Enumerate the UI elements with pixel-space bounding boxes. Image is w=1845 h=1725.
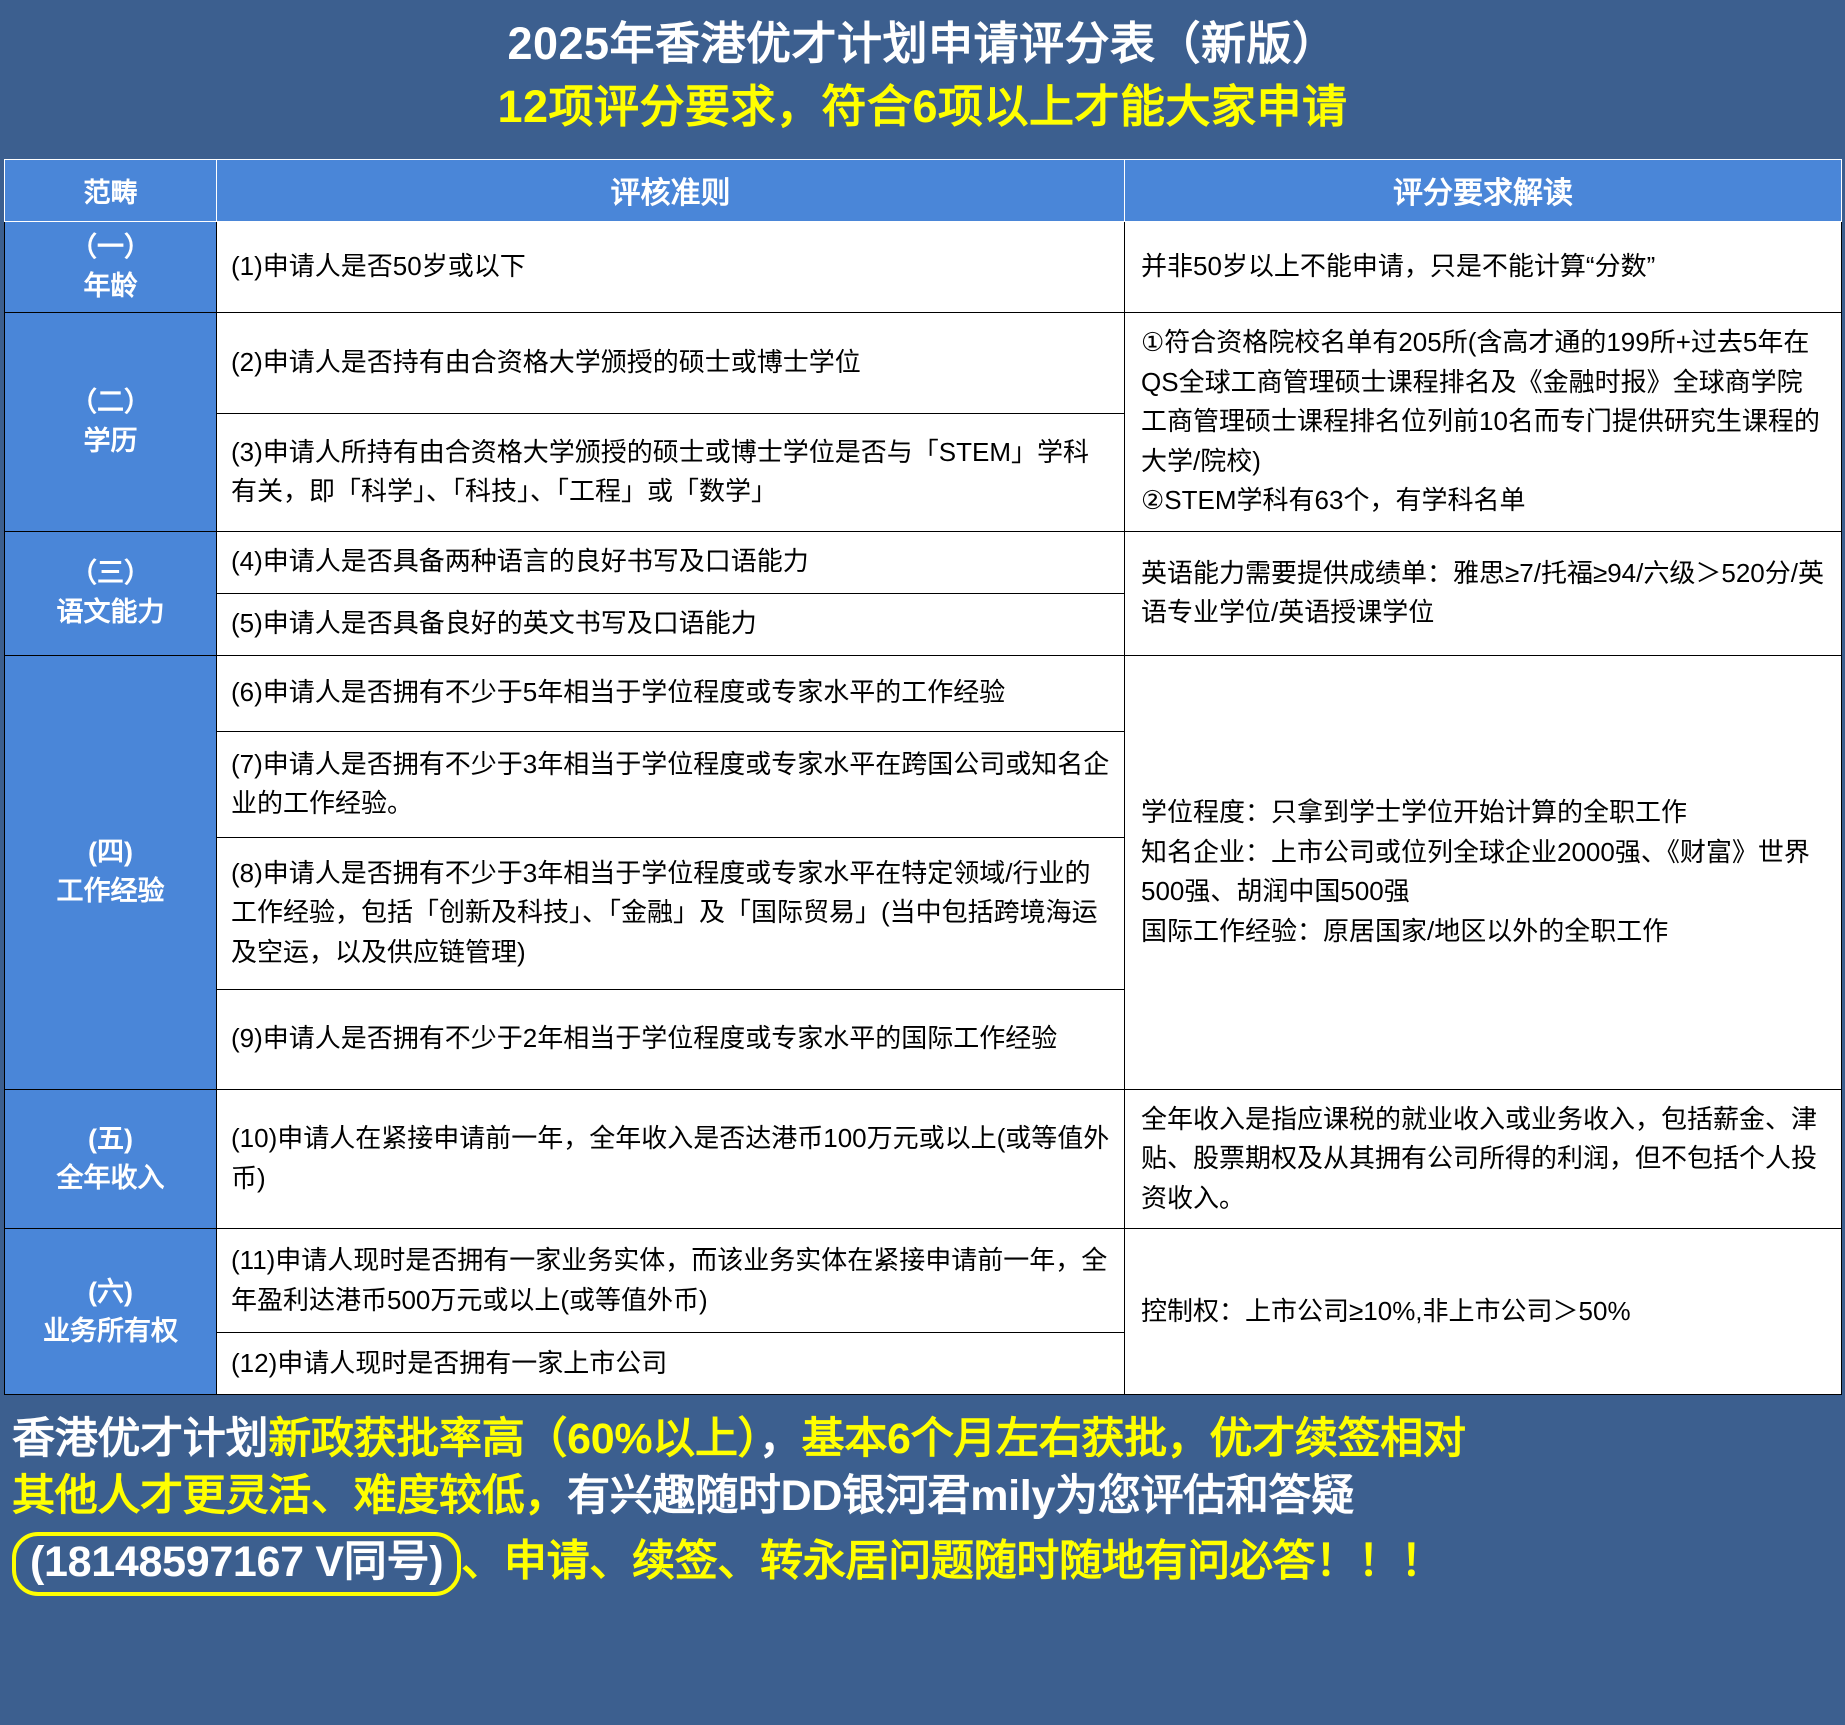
category-name: 语文能力	[7, 593, 214, 632]
category-cell-business: (六) 业务所有权	[5, 1229, 217, 1395]
table-row: (六) 业务所有权 (11)申请人现时是否拥有一家业务实体，而该业务实体在紧接申…	[5, 1229, 1842, 1333]
promo-line3-part-b: 、申请、续签、转永居问题随时随地有问必答！！！	[461, 1537, 1443, 1585]
category-number: (六)	[7, 1273, 214, 1312]
column-header-category: 范畴	[5, 159, 217, 221]
table-row: （二） 学历 (2)申请人是否持有由合资格大学颁授的硕士或博士学位 ①符合资格院…	[5, 313, 1842, 414]
category-name: 全年收入	[7, 1159, 214, 1198]
promo-line1-part-d: 基本6个月左右获批，优才续签相对	[802, 1415, 1466, 1463]
note-cell-business: 控制权：上市公司≥10%,非上市公司＞50%	[1125, 1229, 1842, 1395]
category-cell-language: （三） 语文能力	[5, 531, 217, 655]
page-subtitle: 12项评分要求，符合6项以上才能大家申请	[0, 77, 1845, 136]
criteria-cell-5: (5)申请人是否具备良好的英文书写及口语能力	[217, 593, 1125, 655]
criteria-cell-3: (3)申请人所持有由合资格大学颁授的硕士或博士学位是否与「STEM」学科有关，即…	[217, 413, 1125, 531]
table-header-row: 范畴 评核准则 评分要求解读	[5, 159, 1842, 221]
score-table: 范畴 评核准则 评分要求解读 （一） 年龄 (1)申请人是否50岁或以下 并非5…	[4, 159, 1842, 1395]
category-cell-income: (五) 全年收入	[5, 1089, 217, 1229]
criteria-cell-11: (11)申请人现时是否拥有一家业务实体，而该业务实体在紧接申请前一年，全年盈利达…	[217, 1229, 1125, 1333]
promo-line2-part-b: 有兴趣随时DD银河君mily为您评估和答疑	[567, 1472, 1354, 1520]
column-header-criteria: 评核准则	[217, 159, 1125, 221]
promo-line-2: 其他人才更灵活、难度较低，有兴趣随时DD银河君mily为您评估和答疑	[12, 1468, 1833, 1525]
table-row: (五) 全年收入 (10)申请人在紧接申请前一年，全年收入是否达港币100万元或…	[5, 1089, 1842, 1229]
category-number: （二）	[7, 383, 214, 422]
note-line: ①符合资格院校名单有205所(含高才通的199所+过去5年在QS全球工商管理硕士…	[1141, 323, 1825, 481]
category-number: （一）	[7, 228, 214, 267]
criteria-cell-10: (10)申请人在紧接申请前一年，全年收入是否达港币100万元或以上(或等值外币)	[217, 1089, 1125, 1229]
note-line: 学位程度：只拿到学士学位开始计算的全职工作	[1141, 793, 1825, 833]
note-cell-education: ①符合资格院校名单有205所(含高才通的199所+过去5年在QS全球工商管理硕士…	[1125, 313, 1842, 532]
note-line: 控制权：上市公司≥10%,非上市公司＞50%	[1141, 1292, 1825, 1332]
category-name: 业务所有权	[7, 1312, 214, 1351]
poster-root: 2025年香港优才计划申请评分表（新版） 12项评分要求，符合6项以上才能大家申…	[0, 0, 1845, 1725]
criteria-cell-4: (4)申请人是否具备两种语言的良好书写及口语能力	[217, 531, 1125, 593]
note-cell-work: 学位程度：只拿到学士学位开始计算的全职工作 知名企业：上市公司或位列全球企业20…	[1125, 655, 1842, 1089]
promo-line1-part-c: ，	[759, 1415, 802, 1463]
category-number: (五)	[7, 1120, 214, 1159]
promo-line1-part-a: 香港优才计划	[12, 1415, 268, 1463]
category-cell-education: （二） 学历	[5, 313, 217, 532]
score-table-wrapper: 范畴 评核准则 评分要求解读 （一） 年龄 (1)申请人是否50岁或以下 并非5…	[0, 159, 1845, 1395]
category-cell-age: （一） 年龄	[5, 221, 217, 312]
criteria-cell-8: (8)申请人是否拥有不少于3年相当于学位程度或专家水平在特定领域/行业的工作经验…	[217, 837, 1125, 989]
criteria-cell-2: (2)申请人是否持有由合资格大学颁授的硕士或博士学位	[217, 313, 1125, 414]
criteria-cell-7: (7)申请人是否拥有不少于3年相当于学位程度或专家水平在跨国公司或知名企业的工作…	[217, 731, 1125, 837]
contact-phone-badge[interactable]: (18148597167 V同号)	[12, 1532, 461, 1596]
category-number: (四)	[7, 833, 214, 872]
criteria-cell-1: (1)申请人是否50岁或以下	[217, 221, 1125, 312]
note-line: 国际工作经验：原居国家/地区以外的全职工作	[1141, 912, 1825, 952]
note-cell-language: 英语能力需要提供成绩单：雅思≥7/托福≥94/六级＞520分/英语专业学位/英语…	[1125, 531, 1842, 655]
poster-header: 2025年香港优才计划申请评分表（新版） 12项评分要求，符合6项以上才能大家申…	[0, 0, 1845, 159]
promo-line-3: (18148597167 V同号)、申请、续签、转永居问题随时随地有问必答！！！	[12, 1532, 1833, 1596]
criteria-cell-12: (12)申请人现时是否拥有一家上市公司	[217, 1333, 1125, 1395]
note-line: 知名企业：上市公司或位列全球企业2000强、《财富》世界500强、胡润中国500…	[1141, 833, 1825, 912]
category-number: （三）	[7, 554, 214, 593]
page-title: 2025年香港优才计划申请评分表（新版）	[0, 14, 1845, 73]
criteria-cell-6: (6)申请人是否拥有不少于5年相当于学位程度或专家水平的工作经验	[217, 655, 1125, 731]
promo-line2-part-a: 其他人才更灵活、难度较低，	[12, 1472, 567, 1520]
note-line: 英语能力需要提供成绩单：雅思≥7/托福≥94/六级＞520分/英语专业学位/英语…	[1141, 554, 1825, 633]
column-header-notes: 评分要求解读	[1125, 159, 1842, 221]
table-row: （一） 年龄 (1)申请人是否50岁或以下 并非50岁以上不能申请，只是不能计算…	[5, 221, 1842, 312]
table-row: （三） 语文能力 (4)申请人是否具备两种语言的良好书写及口语能力 英语能力需要…	[5, 531, 1842, 593]
category-name: 工作经验	[7, 872, 214, 911]
note-line: 并非50岁以上不能申请，只是不能计算“分数”	[1141, 247, 1825, 287]
category-name: 年龄	[7, 267, 214, 306]
note-line: 全年收入是指应课税的就业收入或业务收入，包括薪金、津贴、股票期权及从其拥有公司所…	[1141, 1100, 1825, 1219]
criteria-cell-9: (9)申请人是否拥有不少于2年相当于学位程度或专家水平的国际工作经验	[217, 989, 1125, 1089]
note-line: ②STEM学科有63个，有学科名单	[1141, 481, 1825, 521]
table-row: (四) 工作经验 (6)申请人是否拥有不少于5年相当于学位程度或专家水平的工作经…	[5, 655, 1842, 731]
category-name: 学历	[7, 422, 214, 461]
promo-banner: 香港优才计划新政获批率高（60%以上），基本6个月左右获批，优才续签相对 其他人…	[0, 1395, 1845, 1725]
category-cell-work: (四) 工作经验	[5, 655, 217, 1089]
note-cell-income: 全年收入是指应课税的就业收入或业务收入，包括薪金、津贴、股票期权及从其拥有公司所…	[1125, 1089, 1842, 1229]
note-cell-age: 并非50岁以上不能申请，只是不能计算“分数”	[1125, 221, 1842, 312]
promo-line1-part-b: 新政获批率高（60%以上）	[268, 1415, 759, 1463]
promo-line-1: 香港优才计划新政获批率高（60%以上），基本6个月左右获批，优才续签相对	[12, 1411, 1833, 1468]
